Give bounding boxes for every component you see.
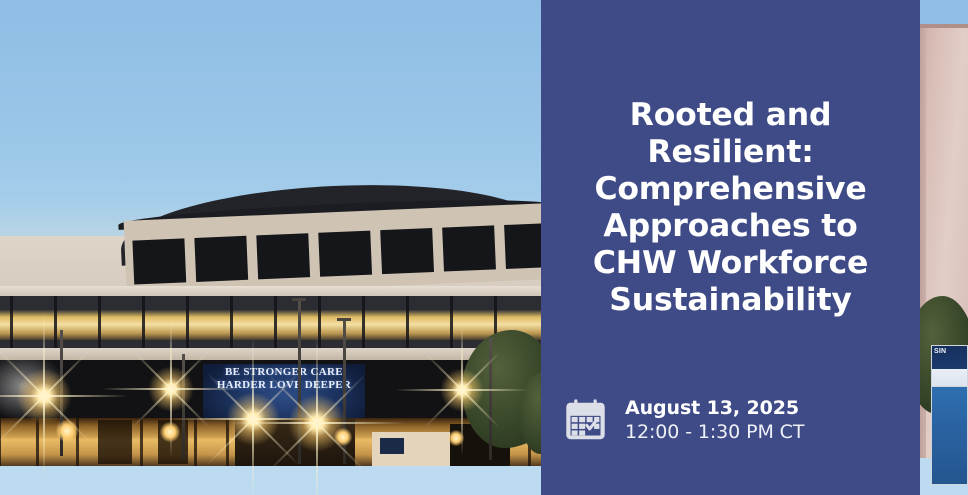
directory-sign-label: SIN (934, 348, 946, 355)
lobby-light-2 (160, 422, 180, 442)
page-title: Rooted and Resilient: Comprehensive Appr… (559, 97, 903, 319)
lobby-light-3 (334, 428, 352, 446)
directory-sign-board (931, 385, 968, 485)
light-flare-2x (148, 366, 194, 412)
light-flare-1x (16, 368, 72, 424)
calendar-check-icon (563, 398, 608, 443)
lobby-light-1 (56, 420, 78, 442)
light-flare-3x (226, 392, 280, 446)
webinar-banner: BE STRONGER CARE HARDER LOVE DEEPER AND … (0, 0, 968, 495)
lamp-post-5 (489, 338, 492, 460)
light-flare-5x (440, 368, 484, 412)
event-datetime: August 13, 2025 12:00 - 1:30 PM CT (563, 396, 804, 445)
content-panel: Rooted and Resilient: Comprehensive Appr… (541, 0, 920, 495)
event-time: 12:00 - 1:30 PM CT (625, 420, 804, 445)
lobby-light-4 (448, 430, 464, 446)
event-date: August 13, 2025 (625, 396, 804, 420)
event-date-block: August 13, 2025 12:00 - 1:30 PM CT (625, 396, 804, 445)
